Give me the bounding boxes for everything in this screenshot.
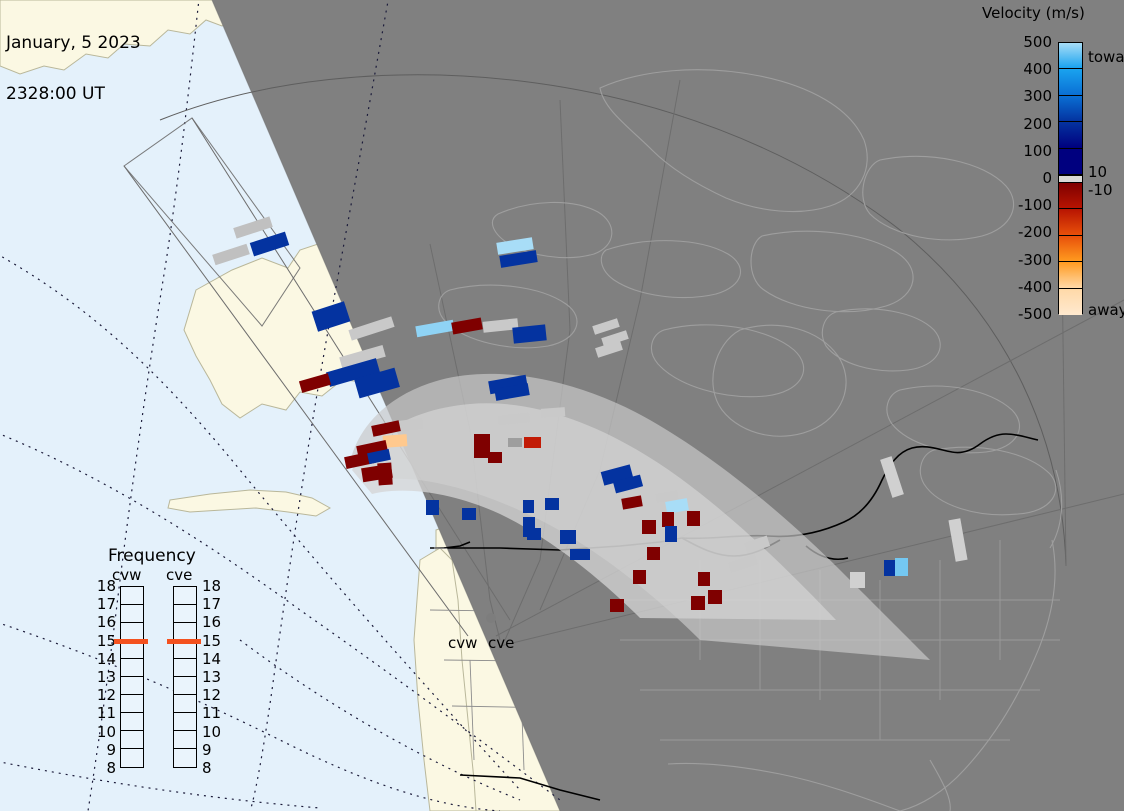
frequency-cell [121, 605, 143, 623]
colorbar-segment-away-0 [1059, 183, 1082, 209]
colorbar-toward-label: toward [1088, 48, 1124, 66]
frequency-tick-right-10: 10 [202, 723, 221, 741]
frequency-tick-right-15: 15 [202, 632, 221, 650]
frequency-tick-right-11: 11 [202, 704, 221, 722]
frequency-tick-right-17: 17 [202, 595, 221, 613]
time-label: 2328:00 UT [6, 86, 141, 103]
frequency-column-name-cve: cve [166, 566, 192, 584]
frequency-tick-right-9: 9 [202, 741, 212, 759]
frequency-cell [121, 587, 143, 605]
colorbar-tick-300: 300 [1023, 87, 1052, 105]
frequency-cell [174, 731, 196, 749]
frequency-tick-right-16: 16 [202, 613, 221, 631]
frequency-tick-left-17: 17 [90, 595, 116, 613]
colorbar-gradient [1058, 42, 1083, 314]
colorbar-tick--300: -300 [1018, 251, 1052, 269]
frequency-cell [174, 677, 196, 695]
frequency-cell [174, 641, 196, 659]
colorbar-segment-toward-0 [1059, 43, 1082, 69]
frequency-bar-cvw[interactable] [120, 586, 144, 768]
timestamp-block: January, 5 2023 2328:00 UT [6, 1, 141, 137]
frequency-tick-right-13: 13 [202, 668, 221, 686]
colorbar-tick-0: 0 [1042, 169, 1052, 187]
frequency-marker-cve [167, 639, 201, 644]
colorbar-tick-labels: 5004003002001000-100-200-300-400-500 [978, 2, 1052, 332]
colorbar-segment-away-4 [1059, 289, 1082, 315]
colorbar-tick--400: -400 [1018, 278, 1052, 296]
colorbar-pos10-label: 10 [1088, 163, 1107, 181]
colorbar-segment-away-1 [1059, 209, 1082, 235]
frequency-tick-right-8: 8 [202, 759, 212, 777]
velocity-colorbar: Velocity (m/s) 5004003002001000-100-200-… [978, 2, 1124, 332]
colorbar-segment-toward-2 [1059, 96, 1082, 122]
frequency-legend: Frequency cvw cve 18171615141312111098 1… [78, 546, 238, 786]
colorbar-tick-500: 500 [1023, 33, 1052, 51]
colorbar-tick-400: 400 [1023, 60, 1052, 78]
radar-site-dot [486, 613, 496, 623]
site-label-cvw: cvw [448, 634, 477, 652]
frequency-cell [174, 749, 196, 767]
frequency-bar-cve[interactable] [173, 586, 197, 768]
frequency-cell [174, 587, 196, 605]
frequency-cell [121, 695, 143, 713]
frequency-column-name-cvw: cvw [112, 566, 141, 584]
colorbar-tick--500: -500 [1018, 305, 1052, 323]
frequency-cell [174, 659, 196, 677]
colorbar-neg10-label: -10 [1088, 181, 1113, 199]
frequency-tick-left-14: 14 [90, 650, 116, 668]
frequency-tick-right-18: 18 [202, 577, 221, 595]
colorbar-zero-band [1059, 175, 1082, 183]
colorbar-segment-away-3 [1059, 262, 1082, 288]
frequency-cell [121, 749, 143, 767]
colorbar-tick--200: -200 [1018, 223, 1052, 241]
frequency-title: Frequency [108, 546, 196, 566]
colorbar-segment-toward-4 [1059, 149, 1082, 175]
frequency-tick-left-9: 9 [90, 741, 116, 759]
frequency-cell [121, 713, 143, 731]
site-label-cve: cve [488, 634, 514, 652]
frequency-tick-right-14: 14 [202, 650, 221, 668]
frequency-cell [121, 659, 143, 677]
frequency-marker-cvw [114, 639, 148, 644]
date-label: January, 5 2023 [6, 35, 141, 52]
frequency-cell [121, 731, 143, 749]
frequency-tick-left-11: 11 [90, 704, 116, 722]
frequency-cell [174, 695, 196, 713]
frequency-tick-left-13: 13 [90, 668, 116, 686]
frequency-cell [121, 641, 143, 659]
frequency-tick-left-12: 12 [90, 686, 116, 704]
frequency-tick-left-10: 10 [90, 723, 116, 741]
radar-map-figure: January, 5 2023 2328:00 UT Velocity (m/s… [0, 0, 1124, 811]
frequency-tick-right-12: 12 [202, 686, 221, 704]
frequency-cell [174, 605, 196, 623]
frequency-tick-left-8: 8 [90, 759, 116, 777]
frequency-tick-left-15: 15 [90, 632, 116, 650]
colorbar-tick--100: -100 [1018, 196, 1052, 214]
frequency-cell [174, 713, 196, 731]
colorbar-segment-away-2 [1059, 236, 1082, 262]
colorbar-tick-100: 100 [1023, 142, 1052, 160]
frequency-tick-left-18: 18 [90, 577, 116, 595]
colorbar-away-label: away [1088, 301, 1124, 319]
colorbar-tick-200: 200 [1023, 115, 1052, 133]
colorbar-segment-toward-3 [1059, 122, 1082, 148]
frequency-cell [121, 677, 143, 695]
colorbar-segment-toward-1 [1059, 69, 1082, 95]
frequency-tick-left-16: 16 [90, 613, 116, 631]
